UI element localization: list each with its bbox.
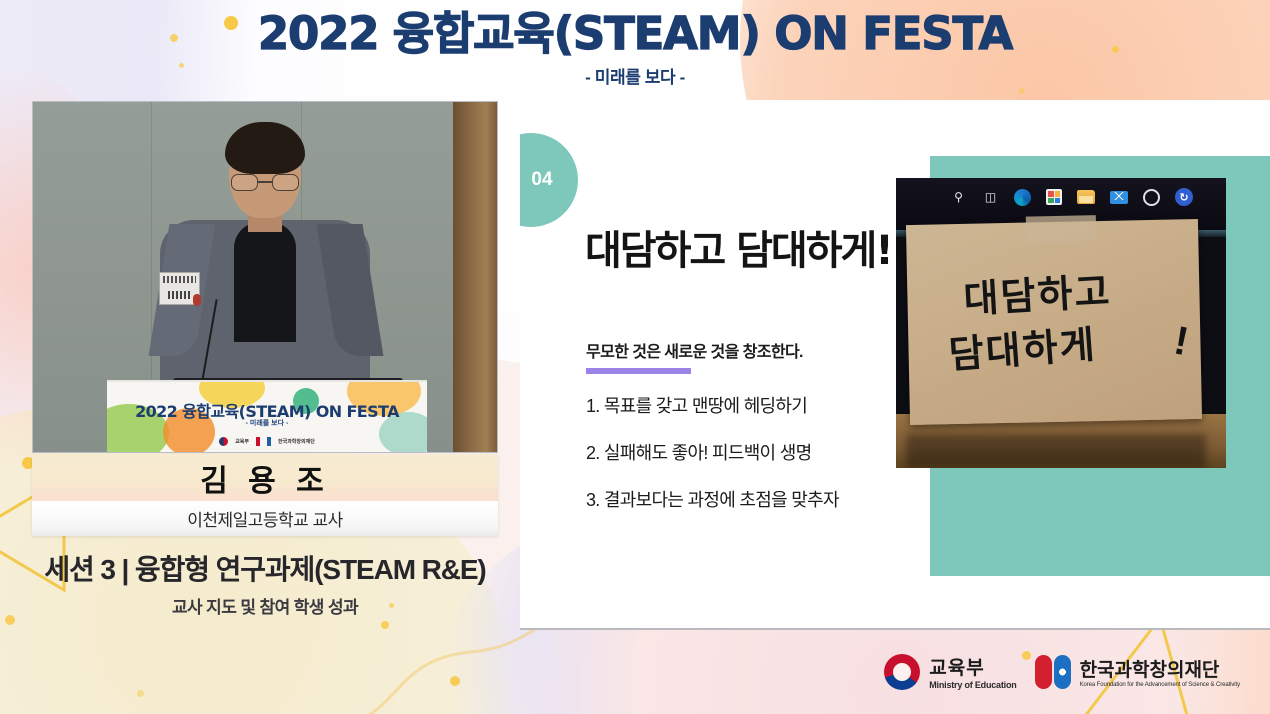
session-info: 세션 3 | 융합형 연구과제(STEAM R&E) 교사 지도 및 참여 학생… bbox=[20, 548, 510, 618]
event-subtitle: - 미래를 보다 - bbox=[585, 63, 685, 88]
speaker-shirt bbox=[234, 222, 296, 342]
windows-start-icon bbox=[918, 189, 935, 206]
microphone-icon bbox=[193, 294, 201, 306]
speaker-hair bbox=[225, 122, 305, 174]
speaker-video[interactable]: 2022 융합교육(STEAM) ON FESTA - 미래를 보다 - 교육부… bbox=[32, 101, 498, 453]
event-header: 2022 융합교육(STEAM) ON FESTA - 미래를 보다 - bbox=[0, 0, 1270, 98]
kofac-label-en: Korea Foundation for the Advancement of … bbox=[1080, 682, 1240, 688]
slide-photo: ⚲ ◫ ↻ 대담하고 담대하게 ! bbox=[896, 178, 1226, 468]
list-item: 2. 실패해도 좋아! 피드백이 생명 bbox=[586, 439, 839, 465]
eyeglasses-icon bbox=[231, 174, 299, 191]
decorative-dot bbox=[137, 690, 144, 697]
taeguk-icon bbox=[219, 437, 228, 446]
event-title: 2022 융합교육(STEAM) ON FESTA bbox=[258, 11, 1012, 56]
podium-banner-subtitle: - 미래를 보다 - bbox=[107, 418, 427, 428]
session-subtitle: 교사 지도 및 참여 학생 성과 bbox=[20, 593, 510, 618]
mail-icon bbox=[1110, 191, 1128, 204]
edge-browser-icon bbox=[1014, 189, 1031, 206]
speaker-affiliation: 이천제일고등학교 교사 bbox=[32, 501, 498, 536]
moe-label-ko: 교육부 bbox=[929, 653, 1016, 680]
settings-gear-icon bbox=[1143, 189, 1160, 206]
kofac-label-ko: 한국과학창의재단 bbox=[1080, 655, 1240, 682]
presentation-slide[interactable]: 04 대담하고 담대하게! 무모한 것은 새로운 것을 창조한다. 1. 목표를… bbox=[520, 100, 1270, 630]
kofac-red-icon bbox=[256, 437, 260, 446]
speaker-name-plate: 김 용 조 이천제일고등학교 교사 bbox=[32, 454, 498, 536]
moe-label-en: Ministry of Education bbox=[929, 680, 1016, 690]
kofac-logo: 한국과학창의재단 Korea Foundation for the Advanc… bbox=[1035, 655, 1240, 689]
wood-panel bbox=[453, 102, 497, 452]
slide-subtitle: 무모한 것은 새로운 것을 창조한다. bbox=[586, 338, 803, 362]
handwriting-exclamation: ! bbox=[1170, 318, 1192, 365]
paper-shadow bbox=[906, 434, 1206, 468]
subtitle-underline bbox=[586, 368, 691, 374]
taeguk-icon bbox=[884, 654, 920, 690]
decorative-dot bbox=[5, 615, 15, 625]
tape-strip bbox=[1026, 215, 1097, 242]
podium-logos: 교육부 한국과학창의재단 bbox=[107, 437, 427, 446]
kraft-paper-note: 대담하고 담대하게 ! bbox=[906, 219, 1202, 425]
slide-number-label: 04 bbox=[520, 169, 553, 191]
microsoft-store-icon bbox=[1046, 189, 1062, 205]
slide-number-badge: 04 bbox=[520, 133, 578, 227]
slide-bullet-list: 1. 목표를 갖고 맨땅에 헤딩하기 2. 실패해도 좋아! 피드백이 생명 3… bbox=[586, 392, 839, 533]
task-view-icon: ◫ bbox=[982, 189, 999, 206]
kofac-blue-icon bbox=[267, 437, 271, 446]
moe-logo: 교육부 Ministry of Education bbox=[884, 653, 1016, 690]
kofac-mark-icon bbox=[1035, 655, 1071, 689]
blue-circle-app-icon: ↻ bbox=[1175, 188, 1193, 206]
podium-kofac-label: 한국과학창의재단 bbox=[278, 438, 315, 445]
footer-logos: 교육부 Ministry of Education 한국과학창의재단 Korea… bbox=[884, 653, 1240, 690]
slide-title: 대담하고 담대하게! bbox=[585, 218, 892, 276]
handwriting-line-2: 담대하게 bbox=[947, 313, 1098, 379]
list-item: 3. 결과보다는 과정에 초점을 맞추자 bbox=[586, 486, 839, 512]
podium-moe-label: 교육부 bbox=[235, 438, 249, 445]
speaker-name: 김 용 조 bbox=[32, 454, 498, 501]
search-icon: ⚲ bbox=[950, 189, 967, 206]
session-title: 세션 3 | 융합형 연구과제(STEAM R&E) bbox=[20, 548, 510, 588]
podium-banner: 2022 융합교육(STEAM) ON FESTA - 미래를 보다 - 교육부… bbox=[107, 380, 427, 452]
file-explorer-icon bbox=[1077, 190, 1095, 204]
windows-taskbar: ⚲ ◫ ↻ bbox=[918, 188, 1193, 206]
list-item: 1. 목표를 갖고 맨땅에 헤딩하기 bbox=[586, 392, 839, 418]
